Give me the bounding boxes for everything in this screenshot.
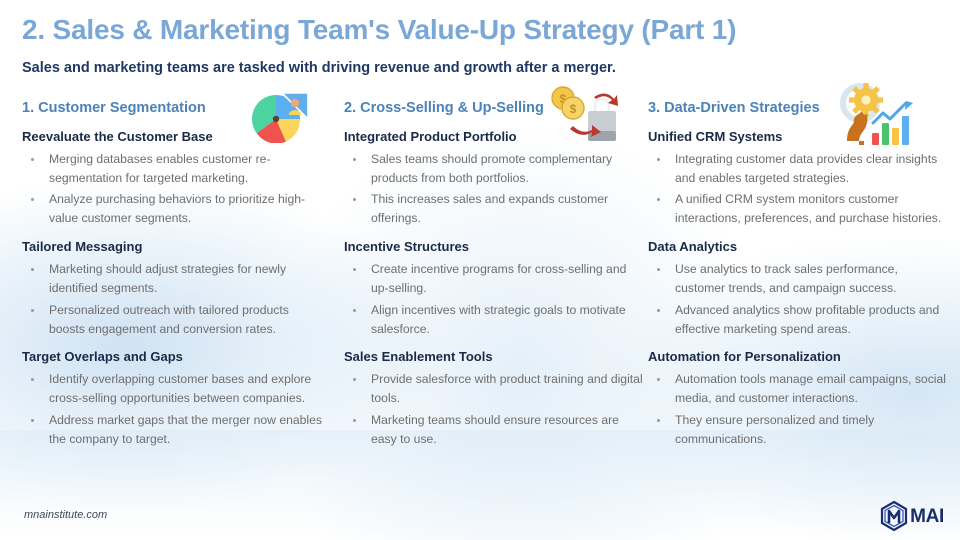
slide-subtitle: Sales and marketing teams are tasked wit… bbox=[22, 60, 616, 76]
content-section: Incentive Structures Create incentive pr… bbox=[344, 239, 644, 338]
list-item: They ensure personalized and timely comm… bbox=[648, 411, 948, 449]
section-heading: Tailored Messaging bbox=[22, 239, 328, 255]
section-heading: Automation for Personalization bbox=[648, 349, 948, 365]
content-section: Tailored Messaging Marketing should adju… bbox=[22, 239, 328, 338]
list-item: Merging databases enables customer re-se… bbox=[22, 150, 328, 188]
bullet-list: Integrating customer data provides clear… bbox=[648, 150, 948, 229]
gear-knight-bar-chart-strategy-icon bbox=[836, 83, 914, 156]
list-item: Create incentive programs for cross-sell… bbox=[344, 260, 644, 298]
list-item: Personalized outreach with tailored prod… bbox=[22, 301, 328, 339]
slide-title: 2. Sales & Marketing Team's Value-Up Str… bbox=[22, 14, 736, 46]
bullet-list: Identify overlapping customer bases and … bbox=[22, 370, 328, 449]
list-item: Align incentives with strategic goals to… bbox=[344, 301, 644, 339]
pie-chart-segmentation-icon bbox=[248, 85, 310, 148]
content-column-customer-segmentation: 1. Customer Segmentation Reevaluate the … bbox=[22, 100, 328, 460]
svg-text:$: $ bbox=[570, 102, 577, 116]
list-item: Address market gaps that the merger now … bbox=[22, 411, 328, 449]
logo-wordmark: MAI bbox=[910, 507, 944, 526]
list-item: Marketing teams should ensure resources … bbox=[344, 411, 644, 449]
content-section: Automation for Personalization Automatio… bbox=[648, 349, 948, 448]
coins-shopping-bag-exchange-icon: $ $ bbox=[546, 83, 620, 158]
content-section: Data Analytics Use analytics to track sa… bbox=[648, 239, 948, 338]
content-section: Target Overlaps and Gaps Identify overla… bbox=[22, 349, 328, 448]
mai-logo: MAI bbox=[879, 500, 944, 532]
list-item: Automation tools manage email campaigns,… bbox=[648, 370, 948, 408]
list-item: Identify overlapping customer bases and … bbox=[22, 370, 328, 408]
list-item: This increases sales and expands custome… bbox=[344, 190, 644, 228]
list-item: Advanced analytics show profitable produ… bbox=[648, 301, 948, 339]
bullet-list: Provide salesforce with product training… bbox=[344, 370, 644, 449]
hexagon-m-logo-icon bbox=[879, 500, 909, 532]
slide-canvas: 2. Sales & Marketing Team's Value-Up Str… bbox=[0, 0, 960, 540]
section-heading: Incentive Structures bbox=[344, 239, 644, 255]
list-item: Use analytics to track sales performance… bbox=[648, 260, 948, 298]
list-item: A unified CRM system monitors customer i… bbox=[648, 190, 948, 228]
list-item: Analyze purchasing behaviors to prioriti… bbox=[22, 190, 328, 228]
list-item: Provide salesforce with product training… bbox=[344, 370, 644, 408]
section-heading: Data Analytics bbox=[648, 239, 948, 255]
bullet-list: Marketing should adjust strategies for n… bbox=[22, 260, 328, 339]
footer-website-url[interactable]: mnainstitute.com bbox=[24, 509, 107, 521]
bullet-list: Merging databases enables customer re-se… bbox=[22, 150, 328, 229]
list-item: Marketing should adjust strategies for n… bbox=[22, 260, 328, 298]
bullet-list: Sales teams should promote complementary… bbox=[344, 150, 644, 229]
section-heading: Target Overlaps and Gaps bbox=[22, 349, 328, 365]
bullet-list: Create incentive programs for cross-sell… bbox=[344, 260, 644, 339]
content-section: Sales Enablement Tools Provide salesforc… bbox=[344, 349, 644, 448]
section-heading: Sales Enablement Tools bbox=[344, 349, 644, 365]
bullet-list: Use analytics to track sales performance… bbox=[648, 260, 948, 339]
bullet-list: Automation tools manage email campaigns,… bbox=[648, 370, 948, 449]
